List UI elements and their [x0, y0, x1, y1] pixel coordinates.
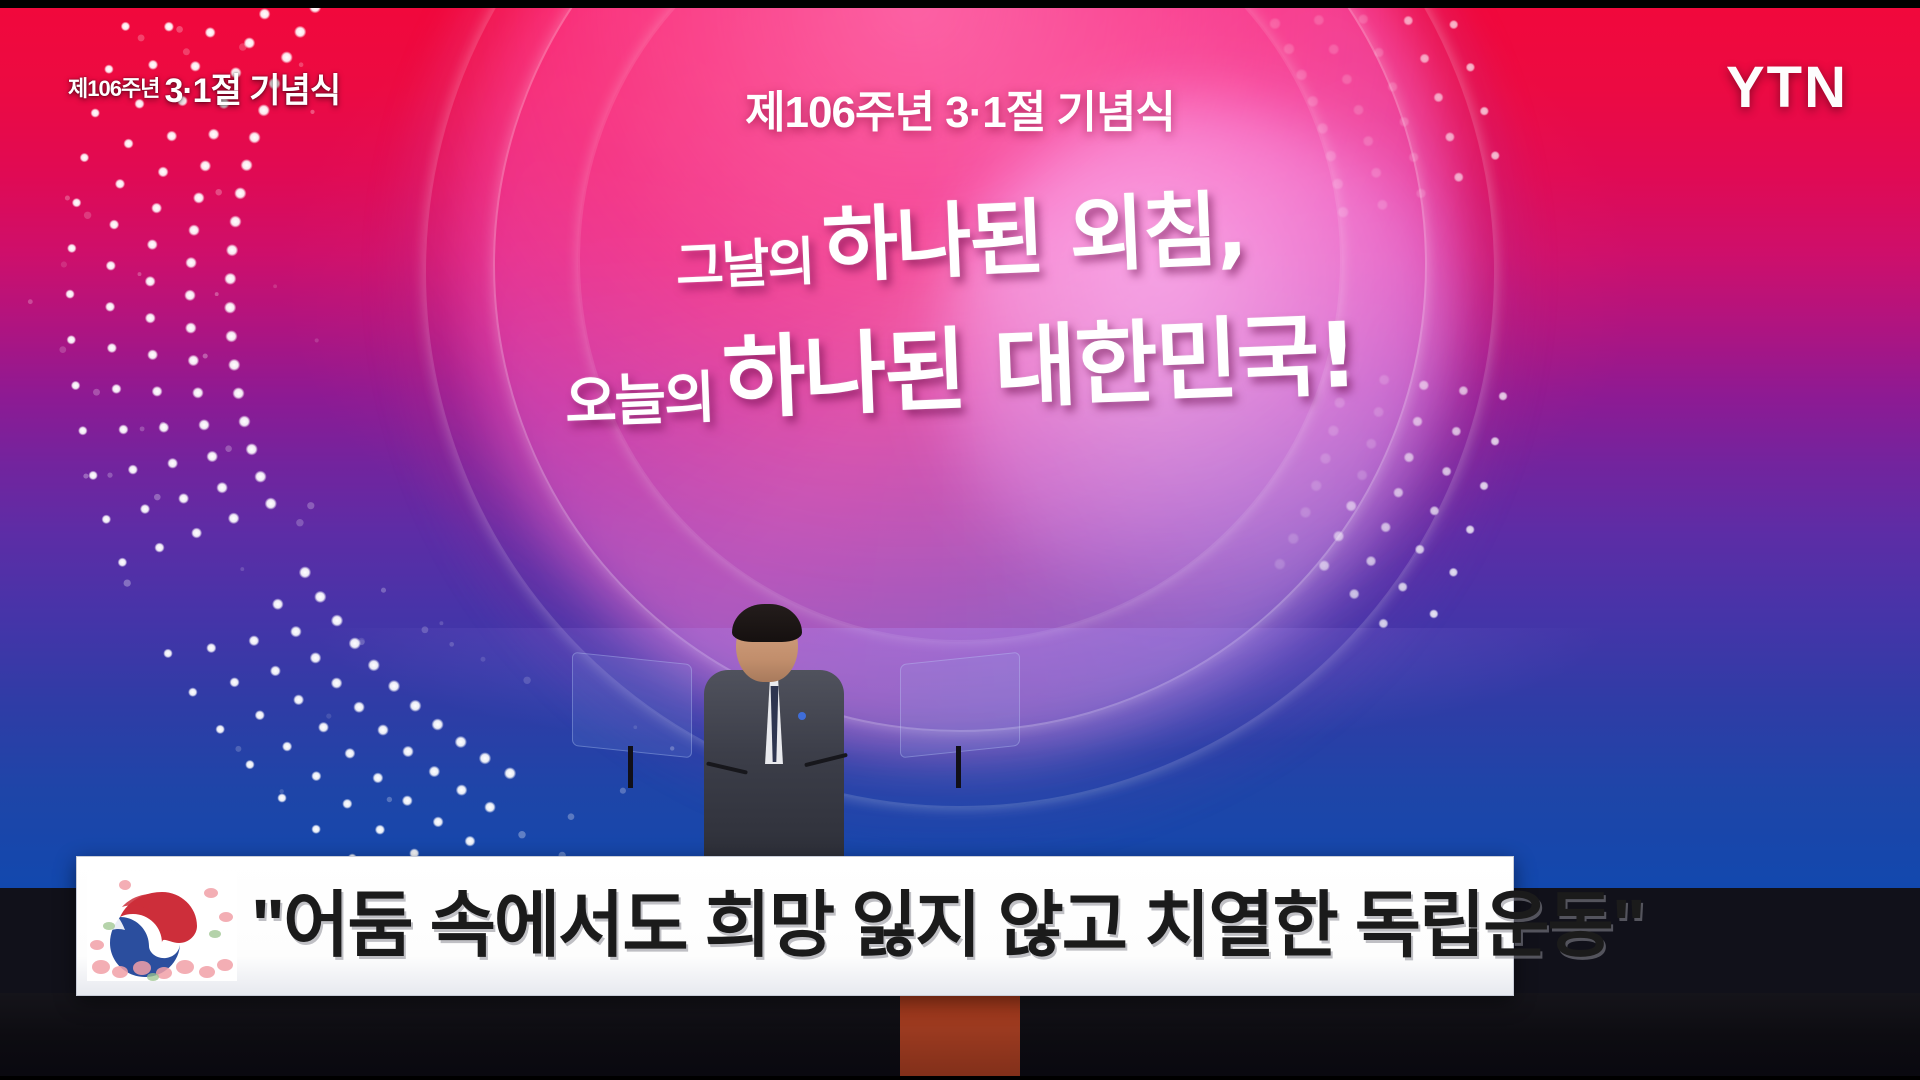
- teleprompter-left-stem: [628, 746, 633, 788]
- letterbox-top: [0, 0, 1920, 8]
- video-frame: 제106주년 3·1절 기념식 그날의하나된 외침, 오늘의하나된 대한민국!: [0, 8, 1920, 1076]
- podium: [900, 993, 1020, 1076]
- teleprompter-left: [572, 652, 692, 759]
- speaker-hair: [732, 604, 802, 642]
- news-caption-bar: "어둠 속에서도 희망 잃지 않고 치열한 독립운동": [76, 856, 1514, 996]
- speaker-lapel-pin-icon: [798, 712, 806, 720]
- letterbox-bottom: [0, 1076, 1920, 1080]
- corner-program-title: 제106주년3·1절 기념식: [68, 63, 340, 112]
- taegeuk-flag-icon: [87, 871, 237, 981]
- caption-headline: "어둠 속에서도 희망 잃지 않고 치열한 독립운동": [251, 890, 1644, 962]
- ytn-network-logo: YTN: [1726, 54, 1848, 121]
- corner-title-main: 3·1절 기념식: [164, 72, 340, 110]
- teleprompter-right: [900, 652, 1020, 759]
- speaker-at-podium: [712, 608, 832, 878]
- teleprompter-right-stem: [956, 746, 961, 788]
- broadcast-screenshot: 제106주년 3·1절 기념식 그날의하나된 외침, 오늘의하나된 대한민국!: [0, 0, 1920, 1080]
- corner-title-small: 제106주년: [68, 76, 159, 101]
